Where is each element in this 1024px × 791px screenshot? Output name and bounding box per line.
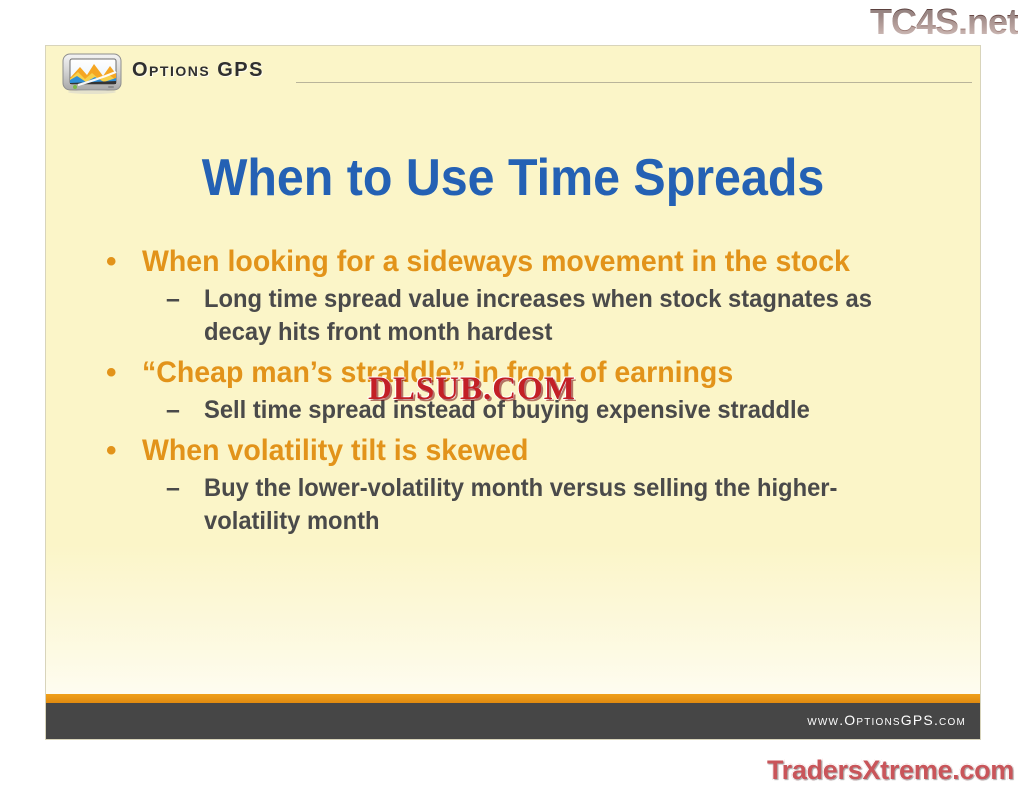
footer-accent-bar <box>46 694 980 703</box>
slide-header: Options GPS <box>46 46 980 98</box>
bullet-level2: – Buy the lower-volatility month versus … <box>94 472 950 538</box>
bullet-marker-dash: – <box>166 472 180 505</box>
bullet-level1-text: When volatility tilt is skewed <box>142 431 910 470</box>
bullet-marker-dot: • <box>106 242 117 281</box>
dlsub-watermark: DLSUB.COM <box>368 373 576 406</box>
bullet-level2: – Long time spread value increases when … <box>94 283 950 349</box>
slide-footer: www.OptionsGPS.com <box>46 703 980 739</box>
bullet-group: • When looking for a sideways movement i… <box>94 242 950 349</box>
footer-url: www.OptionsGPS.com <box>807 712 966 728</box>
gps-device-icon <box>62 52 124 94</box>
bullet-level1: • When volatility tilt is skewed <box>94 431 950 470</box>
bullet-level1: • When looking for a sideways movement i… <box>94 242 950 281</box>
bullet-marker-dash: – <box>166 283 180 316</box>
tradersxtreme-watermark: TradersXtreme.com <box>767 755 1014 785</box>
bullet-level2-text: Long time spread value increases when st… <box>204 283 913 349</box>
brand-name: Options GPS <box>132 59 264 82</box>
bullet-level2-text: Buy the lower-volatility month versus se… <box>204 472 913 538</box>
bullet-group: • When volatility tilt is skewed – Buy t… <box>94 431 950 538</box>
bullet-level1-text: When looking for a sideways movement in … <box>142 242 910 281</box>
bullet-marker-dot: • <box>106 353 117 392</box>
tc4s-watermark: TC4S.net <box>870 2 1018 42</box>
bullet-marker-dash: – <box>166 394 180 427</box>
bullet-marker-dot: • <box>106 431 117 470</box>
header-divider <box>296 82 972 83</box>
page-title: When to Use Time Spreads <box>79 149 948 207</box>
